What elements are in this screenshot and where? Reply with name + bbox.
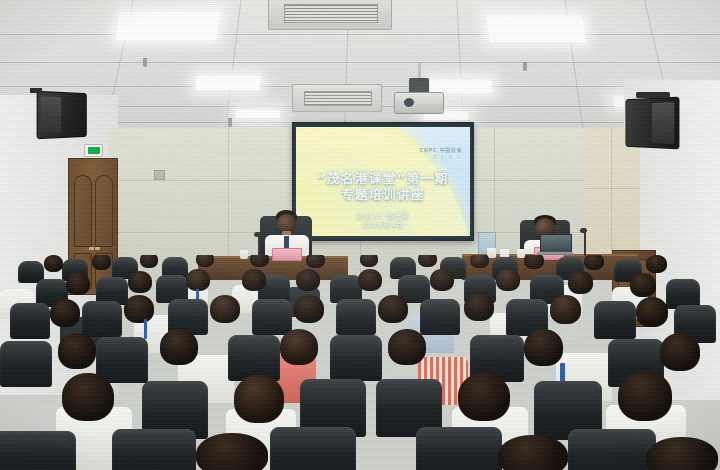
audience-head — [458, 373, 510, 421]
seat[interactable] — [252, 299, 292, 335]
audience-head — [524, 255, 544, 269]
audience-head — [550, 295, 581, 324]
audience-head — [140, 255, 158, 268]
microphone-right — [584, 232, 586, 256]
audience-head — [250, 255, 269, 267]
audience-head — [210, 295, 240, 323]
audience-head — [388, 329, 426, 365]
wall-speaker-left — [37, 91, 87, 139]
audience-head — [498, 435, 568, 470]
audience-head — [50, 299, 80, 327]
microphone-left — [258, 236, 260, 256]
audience-head — [496, 269, 520, 291]
seat[interactable] — [228, 335, 280, 381]
lanyard — [144, 319, 147, 339]
audience-head — [360, 255, 378, 267]
microphone-head-right — [580, 228, 587, 233]
audience-head — [470, 255, 489, 268]
emergency-exit-sign — [84, 144, 103, 157]
seat[interactable] — [270, 427, 356, 470]
seat[interactable] — [0, 341, 52, 387]
door-handle-icon[interactable] — [95, 247, 100, 250]
audience-head — [418, 255, 437, 267]
seat[interactable] — [112, 429, 196, 470]
sprinkler-head — [523, 62, 527, 71]
audience-head — [646, 255, 667, 273]
ceiling-light — [195, 76, 260, 90]
audience-head — [618, 371, 672, 421]
audience-seating-area — [0, 255, 720, 470]
wall-speaker-right — [625, 97, 679, 150]
projector — [394, 92, 444, 114]
audience-head — [568, 271, 593, 294]
audience-head — [62, 373, 114, 421]
ceiling-light — [236, 110, 281, 118]
audience-head — [430, 269, 454, 291]
audience-head — [242, 269, 266, 291]
air-conditioner-unit — [292, 84, 382, 112]
seat[interactable] — [420, 299, 460, 335]
wall-outlet — [154, 170, 165, 180]
seat[interactable] — [568, 429, 656, 470]
microphone-head-left — [254, 232, 261, 237]
audience-head — [196, 255, 214, 267]
sprinkler-head — [143, 58, 147, 67]
audience-head — [660, 333, 700, 371]
audience-head — [66, 273, 90, 295]
audience-head — [636, 297, 668, 327]
audience-head — [378, 295, 408, 323]
speaker-bracket-right — [636, 92, 670, 98]
ceiling-light — [116, 12, 220, 40]
lecture-hall-photo: CNPC 中国石油 茂 名 港 务 “茂名港课堂”第一期 专题培训讲座 主讲人：… — [0, 0, 720, 470]
seat[interactable] — [10, 303, 50, 339]
projector-lens — [404, 98, 414, 107]
seat[interactable] — [96, 337, 148, 383]
audience-head — [186, 269, 210, 291]
seat[interactable] — [336, 299, 376, 335]
door-handle-icon[interactable] — [89, 247, 94, 250]
audience-head — [524, 329, 563, 366]
audience-head — [160, 329, 198, 365]
seat[interactable] — [82, 301, 122, 337]
sprinkler-head — [228, 118, 232, 127]
audience-head — [92, 255, 111, 270]
audience-head — [196, 433, 268, 470]
speaker-bracket-left — [30, 88, 42, 93]
audience-head — [306, 255, 325, 268]
audience-head — [44, 255, 63, 272]
audience-head — [128, 271, 152, 293]
audience-head — [294, 295, 324, 323]
audience-head — [124, 295, 154, 323]
audience-head — [234, 375, 284, 423]
audience-head — [58, 333, 96, 369]
ceiling-light — [486, 16, 585, 42]
seat[interactable] — [594, 301, 636, 339]
audience-head — [280, 329, 318, 365]
seat[interactable] — [0, 431, 76, 470]
audience-head — [630, 273, 656, 297]
audience-head — [646, 437, 718, 470]
audience-head — [358, 269, 382, 291]
air-conditioner-unit — [268, 0, 392, 30]
audience-head — [584, 255, 604, 270]
seat[interactable] — [330, 335, 382, 381]
seat[interactable] — [416, 427, 502, 470]
audience-head — [464, 293, 494, 321]
audience-head — [296, 269, 320, 291]
